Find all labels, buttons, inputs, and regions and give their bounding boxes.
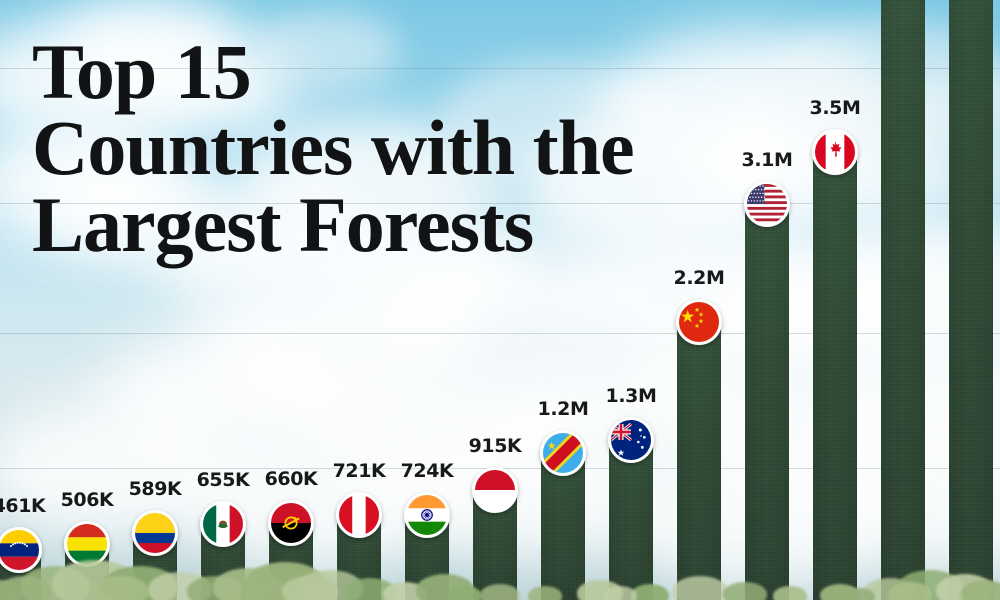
colombia-flag bbox=[132, 510, 178, 556]
bar-canada[interactable] bbox=[813, 143, 857, 600]
bolivia-flag bbox=[64, 521, 110, 567]
infographic-canvas: 461K 506K 589K 655K 660K 721K 7 bbox=[0, 0, 1000, 600]
indonesia-flag bbox=[472, 467, 518, 513]
bar-united-states[interactable] bbox=[745, 195, 789, 600]
bar-value-label-mexico: 655K bbox=[197, 469, 250, 491]
bar-value-label-united-states: 3.1M bbox=[742, 149, 793, 171]
title-line-1: Top 15 bbox=[32, 34, 692, 110]
title-line-3: Largest Forests bbox=[32, 187, 692, 263]
bar-brazil[interactable] bbox=[881, 0, 925, 600]
united-states-flag bbox=[744, 181, 790, 227]
bar-value-label-india: 724K bbox=[401, 460, 454, 482]
title-line-2: Countries with the bbox=[32, 110, 692, 186]
mexico-flag-graphic bbox=[203, 504, 243, 544]
india-flag bbox=[404, 492, 450, 538]
canada-flag bbox=[812, 129, 858, 175]
peru-flag-graphic bbox=[339, 495, 379, 535]
bar-value-label-colombia: 589K bbox=[129, 478, 182, 500]
bar-value-label-peru: 721K bbox=[333, 460, 386, 482]
venezuela-flag bbox=[0, 527, 42, 573]
dr-congo-flag bbox=[540, 430, 586, 476]
peru-flag bbox=[336, 492, 382, 538]
venezuela-flag-graphic bbox=[0, 530, 39, 570]
colombia-flag-graphic bbox=[135, 513, 175, 553]
china-flag-graphic bbox=[679, 302, 719, 342]
australia-flag-graphic bbox=[611, 420, 651, 460]
united-states-flag-graphic bbox=[747, 184, 787, 224]
dr-congo-flag-graphic bbox=[543, 433, 583, 473]
bar-value-label-venezuela: 461K bbox=[0, 495, 45, 517]
bar-value-label-indonesia: 915K bbox=[469, 435, 522, 457]
australia-flag bbox=[608, 417, 654, 463]
bar-russia[interactable] bbox=[949, 0, 993, 600]
bar-value-label-canada: 3.5M bbox=[810, 97, 861, 119]
indonesia-flag-graphic bbox=[475, 470, 515, 510]
bar-value-label-angola: 660K bbox=[265, 468, 318, 490]
page-title: Top 15 Countries with the Largest Forest… bbox=[32, 34, 692, 263]
bar-china[interactable] bbox=[677, 313, 721, 600]
bar-value-label-china: 2.2M bbox=[674, 267, 725, 289]
mexico-flag bbox=[200, 501, 246, 547]
bar-value-label-australia: 1.3M bbox=[606, 385, 657, 407]
angola-flag bbox=[268, 500, 314, 546]
china-flag bbox=[676, 299, 722, 345]
bar-value-label-dr-congo: 1.2M bbox=[538, 398, 589, 420]
bolivia-flag-graphic bbox=[67, 524, 107, 564]
canada-flag-graphic bbox=[815, 132, 855, 172]
india-flag-graphic bbox=[407, 495, 447, 535]
bar-value-label-bolivia: 506K bbox=[61, 489, 114, 511]
angola-flag-graphic bbox=[271, 503, 311, 543]
